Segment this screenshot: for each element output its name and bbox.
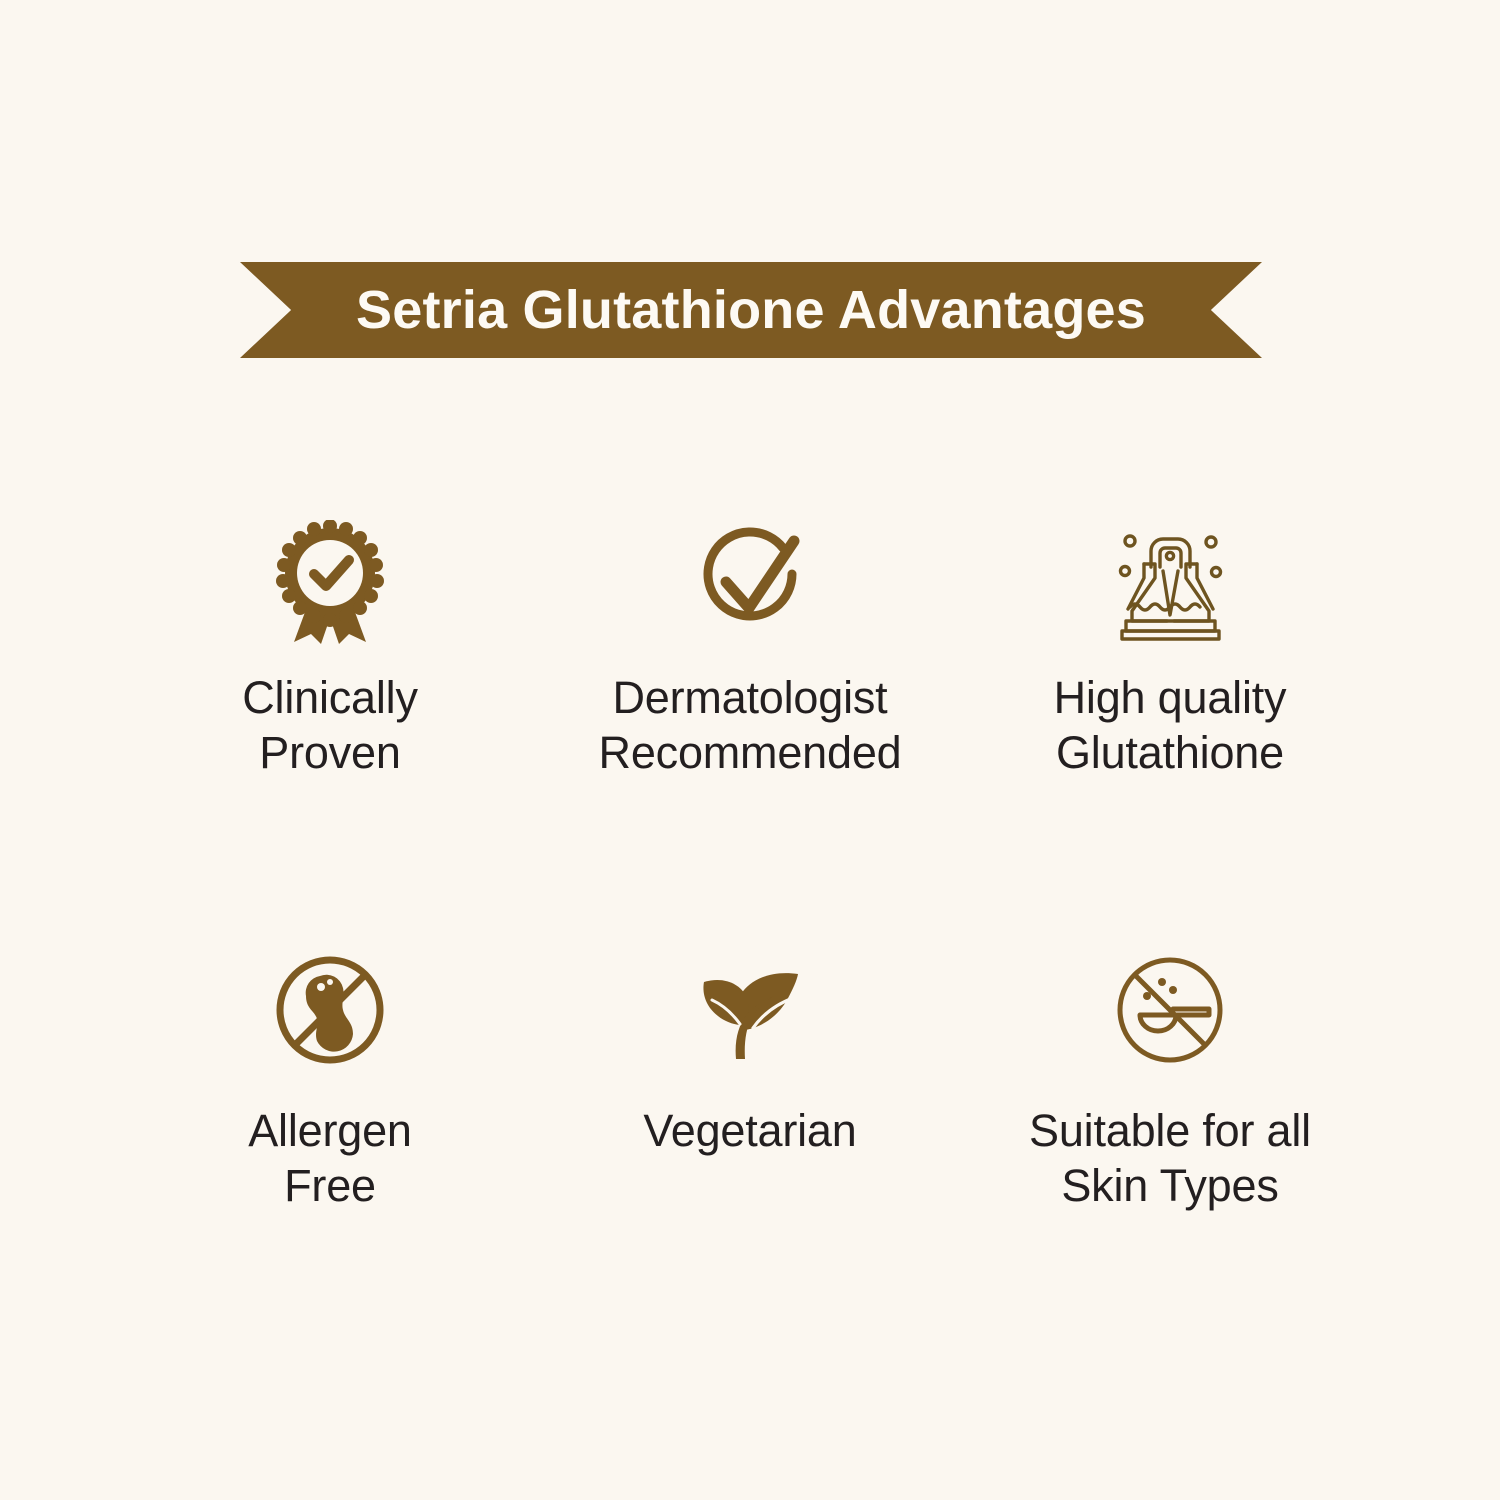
feature-label-line1: Allergen [248, 1104, 412, 1159]
lab-flasks-icon [1108, 520, 1233, 645]
feature-label-line2: Recommended [599, 726, 902, 781]
feature-label: High quality Glutathione [1054, 671, 1287, 781]
feature-item-clinically-proven: Clinically Proven [120, 500, 540, 930]
feature-label-line1: Dermatologist [599, 671, 902, 726]
award-badge-check-icon [270, 520, 390, 645]
feature-label: Allergen Free [248, 1104, 412, 1214]
feature-item-allergen-free: Allergen Free [120, 930, 540, 1360]
feature-label-line1: High quality [1054, 671, 1287, 726]
circle-check-icon [690, 520, 810, 645]
feature-label-line2: Proven [242, 726, 418, 781]
feature-label: Vegetarian [643, 1104, 856, 1159]
leaf-sprout-icon [690, 950, 810, 1070]
feature-label-line1: Suitable for all [1029, 1104, 1311, 1159]
feature-label-line2: Free [248, 1159, 412, 1214]
advantages-infographic: Setria Glutathione Advantages [0, 0, 1500, 1500]
no-peanut-icon [273, 950, 388, 1070]
feature-grid: Clinically Proven Dermatologist Recommen… [120, 500, 1380, 1360]
banner-title: Setria Glutathione Advantages [356, 283, 1146, 337]
feature-label-line2: Glutathione [1054, 726, 1287, 781]
banner-ribbon: Setria Glutathione Advantages [240, 262, 1262, 358]
feature-label-line1: Vegetarian [643, 1104, 856, 1159]
feature-item-suitable-for-all-skin-types: Suitable for all Skin Types [960, 930, 1380, 1360]
feature-label: Dermatologist Recommended [599, 671, 902, 781]
banner-shape: Setria Glutathione Advantages [240, 262, 1262, 358]
feature-label-line1: Clinically [242, 671, 418, 726]
feature-item-dermatologist-recommended: Dermatologist Recommended [540, 500, 960, 930]
feature-item-high-quality-glutathione: High quality Glutathione [960, 500, 1380, 930]
feature-label-line2: Skin Types [1029, 1159, 1311, 1214]
feature-item-vegetarian: Vegetarian [540, 930, 960, 1360]
feature-label: Suitable for all Skin Types [1029, 1104, 1311, 1214]
no-spoon-additives-icon [1111, 950, 1229, 1070]
feature-label: Clinically Proven [242, 671, 418, 781]
